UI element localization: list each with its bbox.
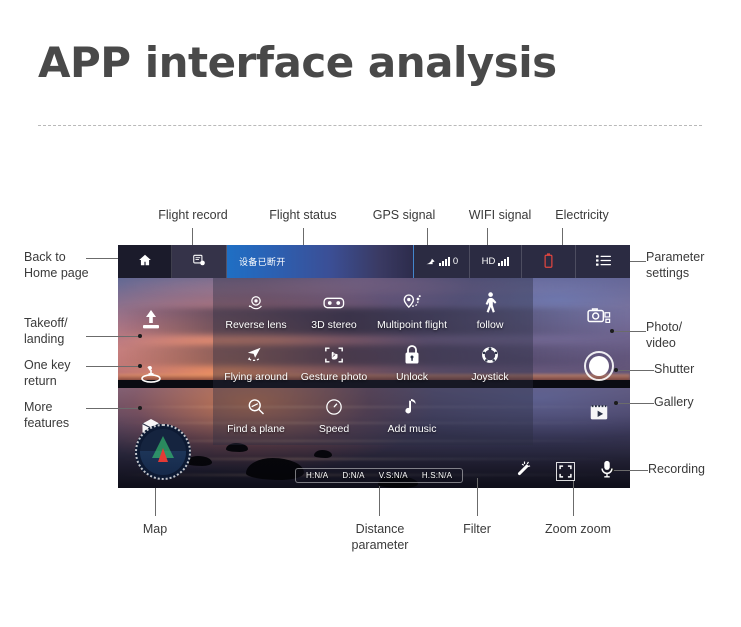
- annotation-distance-parameter: Distance parameter: [334, 522, 426, 553]
- leader-line: [379, 486, 380, 516]
- leader-line: [155, 488, 156, 516]
- annotation-filter: Filter: [444, 522, 510, 538]
- microphone-icon: [598, 459, 616, 484]
- gesture-focus-icon: [323, 344, 345, 366]
- telemetry-distance: D:N/A: [342, 471, 364, 480]
- music-note-icon: [401, 396, 423, 418]
- grid-item-label: Add music: [387, 423, 436, 435]
- compass-radar-icon: [140, 429, 186, 475]
- grid-item-reverse-lens[interactable]: Reverse lens: [217, 286, 295, 338]
- feature-grid: Reverse lens 3D stereo: [213, 278, 533, 445]
- telemetry-vertical-speed: V.S:N/A: [379, 471, 408, 480]
- leader-line: [477, 478, 478, 516]
- grid-item-3d-stereo[interactable]: 3D stereo: [295, 286, 373, 338]
- distance-parameter-strip: H:N/A D:N/A V.S:N/A H.S:N/A: [295, 468, 463, 483]
- home-icon: [138, 253, 152, 270]
- telemetry-horizontal-speed: H.S:N/A: [422, 471, 452, 480]
- grid-item-label: Reverse lens: [225, 319, 286, 331]
- grid-item-joystick[interactable]: Joystick: [451, 338, 529, 390]
- annotation-one-key-return: One key return: [24, 358, 112, 389]
- list-settings-icon: [596, 254, 611, 270]
- home-button[interactable]: [118, 245, 172, 278]
- return-to-home-icon: [139, 362, 163, 391]
- annotation-recording: Recording: [648, 462, 738, 478]
- telemetry-height: H:N/A: [306, 471, 328, 480]
- vr-goggles-icon: [323, 292, 345, 314]
- grid-item-flying-around[interactable]: Flying around: [217, 338, 295, 390]
- grid-item-label: Speed: [319, 423, 349, 435]
- leader-line: [86, 336, 140, 337]
- annotation-photo-video: Photo/ video: [646, 320, 734, 351]
- gps-signal: 0: [414, 245, 470, 278]
- annotation-shutter: Shutter: [654, 362, 734, 378]
- annotation-zoom-zoom: Zoom zoom: [528, 522, 628, 538]
- gallery-play-icon: [588, 401, 610, 428]
- leader-line: [573, 480, 574, 516]
- wifi-signal: HD: [470, 245, 522, 278]
- leader-line: [616, 403, 654, 404]
- filter-button[interactable]: [512, 460, 534, 482]
- flight-status-text: 设备已断开: [239, 255, 286, 268]
- reverse-lens-icon: [245, 292, 267, 314]
- speedometer-icon: [323, 396, 345, 418]
- shutter-icon: [584, 351, 614, 381]
- annotation-wifi-signal: WIFI signal: [456, 208, 544, 224]
- grid-item-label: 3D stereo: [311, 319, 357, 331]
- battery-empty-icon: [544, 253, 553, 271]
- status-bar: 设备已断开 0 HD: [118, 245, 630, 278]
- leader-line: [612, 331, 646, 332]
- grid-item-label: Unlock: [396, 371, 428, 383]
- joystick-ring-icon: [479, 344, 501, 366]
- gallery-button[interactable]: [584, 399, 614, 429]
- walking-person-icon: [479, 292, 501, 314]
- page-title: APP interface analysis: [38, 38, 557, 87]
- grid-item-multipoint-flight[interactable]: Multipoint flight: [373, 286, 451, 338]
- flight-status: 设备已断开: [227, 245, 414, 278]
- one-key-return-button[interactable]: [136, 361, 166, 391]
- title-divider: [38, 125, 702, 126]
- grid-item-gesture-photo[interactable]: Gesture photo: [295, 338, 373, 390]
- gps-value: 0: [453, 256, 458, 267]
- find-plane-search-icon: [245, 396, 267, 418]
- recording-button[interactable]: [596, 460, 618, 482]
- annotation-parameter-settings: Parameter settings: [646, 250, 740, 281]
- grid-item-follow[interactable]: follow: [451, 286, 529, 338]
- app-screen: 设备已断开 0 HD: [118, 245, 630, 488]
- map-compass[interactable]: [135, 424, 191, 480]
- leader-line: [86, 366, 140, 367]
- leader-dot: [614, 401, 618, 405]
- annotation-gallery: Gallery: [654, 395, 734, 411]
- annotation-more-features: More features: [24, 400, 112, 431]
- bottom-tool-row: [512, 460, 618, 482]
- grid-item-label: Joystick: [471, 371, 508, 383]
- signal-bars-icon: [498, 257, 509, 266]
- battery-status: [522, 245, 576, 278]
- grid-item-label: Multipoint flight: [377, 319, 447, 331]
- grid-item-unlock[interactable]: Unlock: [373, 338, 451, 390]
- annotation-map: Map: [120, 522, 190, 538]
- grid-item-label: Find a plane: [227, 423, 285, 435]
- paper-plane-orbit-icon: [245, 344, 267, 366]
- leader-dot: [614, 368, 618, 372]
- padlock-icon: [401, 344, 423, 366]
- shutter-button[interactable]: [584, 351, 614, 381]
- flight-record-icon: [192, 253, 206, 270]
- zoom-frame-icon: [556, 462, 575, 481]
- takeoff-landing-icon: [139, 308, 163, 337]
- parameter-settings-button[interactable]: [576, 245, 630, 278]
- right-control-rail: [584, 303, 614, 429]
- flight-record-button[interactable]: [172, 245, 227, 278]
- grid-item-speed[interactable]: Speed: [295, 389, 373, 441]
- annotation-flight-status: Flight status: [258, 208, 348, 224]
- annotation-flight-record: Flight record: [148, 208, 238, 224]
- grid-item-add-music[interactable]: Add music: [373, 389, 451, 441]
- grid-item-label: Gesture photo: [301, 371, 368, 383]
- photo-video-toggle-button[interactable]: [584, 303, 614, 333]
- leader-line: [192, 228, 193, 246]
- waypoint-pin-icon: [401, 292, 423, 314]
- wifi-label: HD: [482, 256, 496, 267]
- grid-item-empty: [451, 389, 529, 441]
- annotation-takeoff-landing: Takeoff/ landing: [24, 316, 112, 347]
- leader-line: [86, 408, 140, 409]
- magic-wand-icon: [513, 459, 533, 484]
- annotation-gps-signal: GPS signal: [360, 208, 448, 224]
- annotation-electricity: Electricity: [540, 208, 624, 224]
- grid-item-find-a-plane[interactable]: Find a plane: [217, 389, 295, 441]
- grid-item-label: Flying around: [224, 371, 288, 383]
- leader-line: [616, 370, 654, 371]
- leader-line: [86, 258, 118, 259]
- camera-switch-icon: [587, 305, 611, 332]
- takeoff-landing-button[interactable]: [136, 307, 166, 337]
- satellite-icon: [425, 255, 436, 269]
- annotation-back-to-home-page: Back to Home page: [24, 250, 116, 281]
- zoom-zoom-button[interactable]: [554, 460, 576, 482]
- signal-bars-icon: [439, 257, 450, 266]
- grid-item-label: follow: [477, 319, 504, 331]
